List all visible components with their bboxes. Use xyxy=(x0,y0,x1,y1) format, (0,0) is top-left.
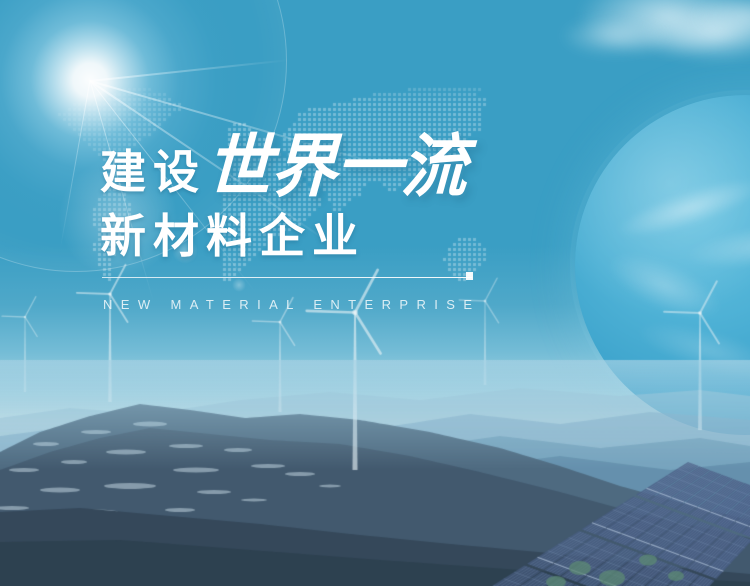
headline-emphasis: 世界一流 xyxy=(205,133,467,202)
banner-subtitle: NEW MATERIAL ENTERPRISE xyxy=(103,297,480,312)
hero-banner: 建设 世界一流 新材料企业 NEW MATERIAL ENTERPRISE xyxy=(0,0,750,586)
banner-text-block: 建设 世界一流 新材料企业 NEW MATERIAL ENTERPRISE xyxy=(0,0,750,586)
headline-line-1: 建设 世界一流 xyxy=(100,134,466,200)
headline-divider-cap xyxy=(466,272,473,280)
headline-line-2: 新材料企业 xyxy=(100,213,365,259)
headline-prefix: 建设 xyxy=(100,149,206,200)
headline-divider xyxy=(102,277,472,278)
